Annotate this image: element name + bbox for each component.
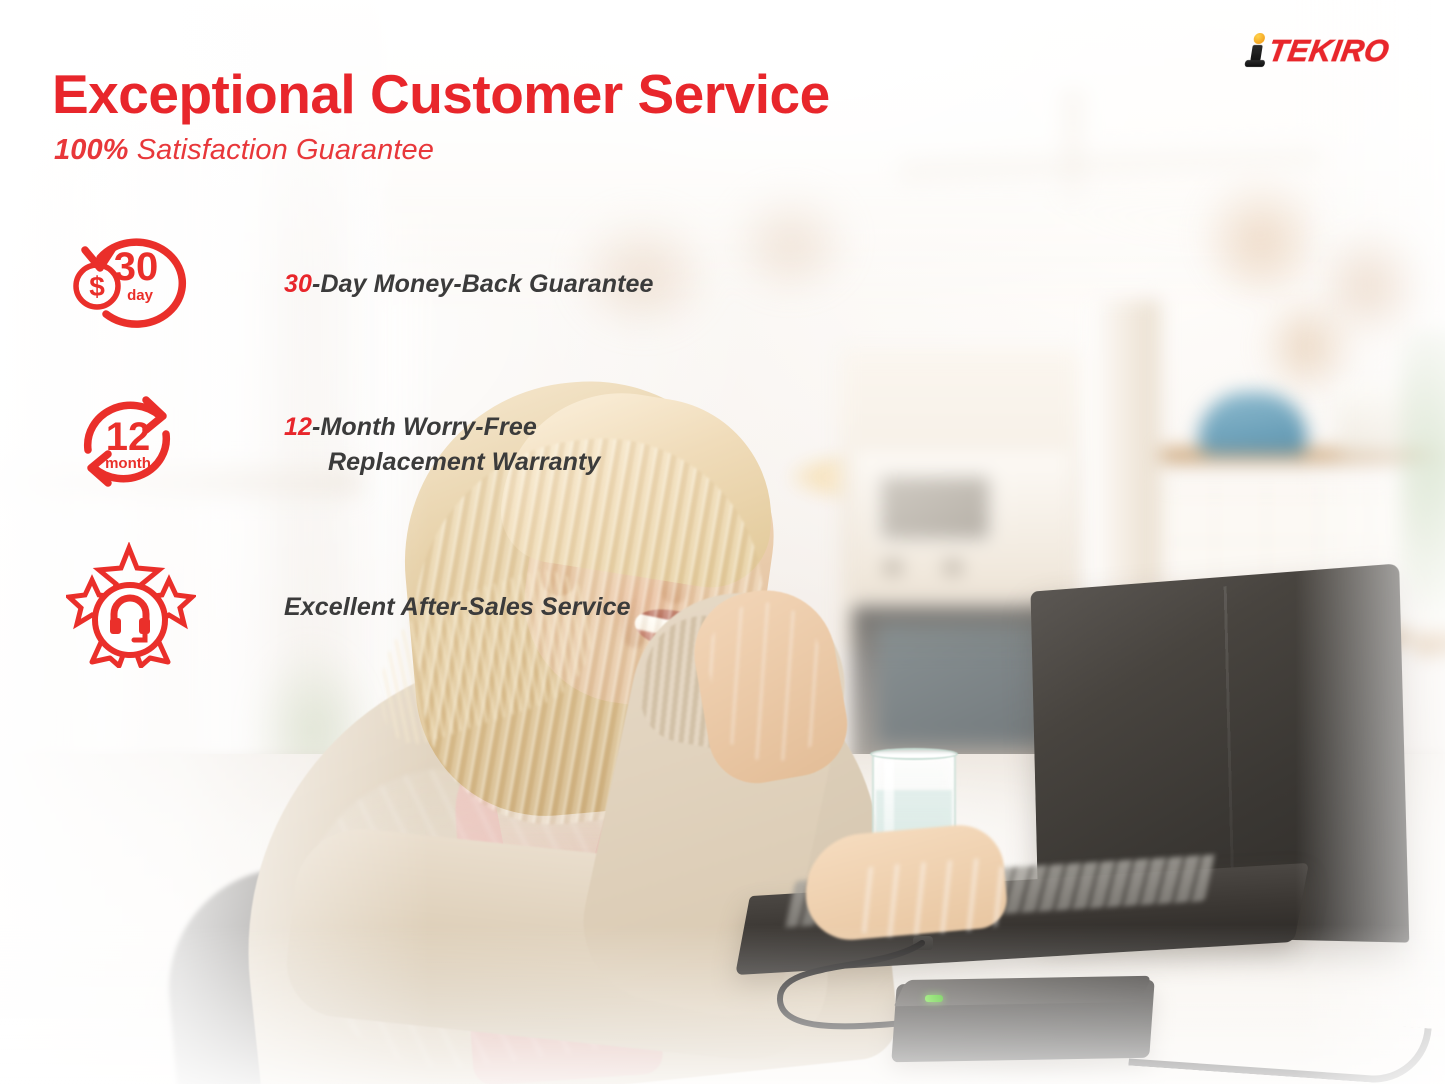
subtitle-rest: Satisfaction Guarantee (129, 134, 434, 166)
svg-text:30: 30 (114, 245, 159, 289)
feature-warranty-text-line2: Replacement Warranty (284, 445, 600, 480)
feature-after-sales-text: Excellent After-Sales Service (284, 593, 631, 621)
subtitle-percent: 100% (54, 134, 129, 166)
feature-money-back-text: -Day Money-Back Guarantee (312, 270, 654, 298)
logo-stem-icon (1250, 45, 1263, 61)
feature-warranty-number: 12 (284, 413, 312, 441)
water-glass-rim (870, 748, 958, 760)
logo-base-icon (1244, 60, 1265, 67)
kitchen-blue-kettle (1198, 392, 1308, 454)
logo-i-mark-icon (1244, 34, 1269, 66)
feature-warranty: 12 month 12-Month Worry-Free Replacement… (66, 388, 600, 501)
feature-warranty-label: 12-Month Worry-Free Replacement Warranty (284, 410, 600, 479)
feature-money-back-label: 30-Day Money-Back Guarantee (284, 267, 654, 302)
svg-text:12: 12 (106, 415, 151, 459)
logo-dot-icon (1253, 33, 1266, 44)
after-sales-service-badge-icon (66, 542, 196, 673)
page-subtitle: 100% Satisfaction Guarantee (54, 134, 434, 167)
feature-after-sales-label: Excellent After-Sales Service (284, 590, 631, 625)
photo-right-fade (1295, 0, 1445, 1084)
feature-after-sales: Excellent After-Sales Service (66, 542, 631, 673)
svg-text:day: day (127, 287, 154, 304)
twelve-month-warranty-icon: 12 month (66, 388, 196, 501)
thirty-day-money-back-icon: $ 30 day (66, 228, 196, 341)
customer-service-banner: TEKIRO Exceptional Customer Service 100%… (0, 0, 1445, 1084)
svg-text:$: $ (89, 271, 105, 302)
svg-text:month: month (105, 455, 151, 472)
photo-bottom-fade (0, 924, 1445, 1084)
logo-wordmark: TEKIRO (1266, 35, 1391, 66)
feature-money-back-number: 30 (284, 270, 312, 298)
feature-money-back: $ 30 day 30-Day Money-Back Guarantee (66, 228, 654, 341)
tekiro-logo[interactable]: TEKIRO (1244, 34, 1391, 66)
feature-warranty-text: -Month Worry-Free (312, 413, 537, 441)
page-title: Exceptional Customer Service (52, 66, 830, 123)
